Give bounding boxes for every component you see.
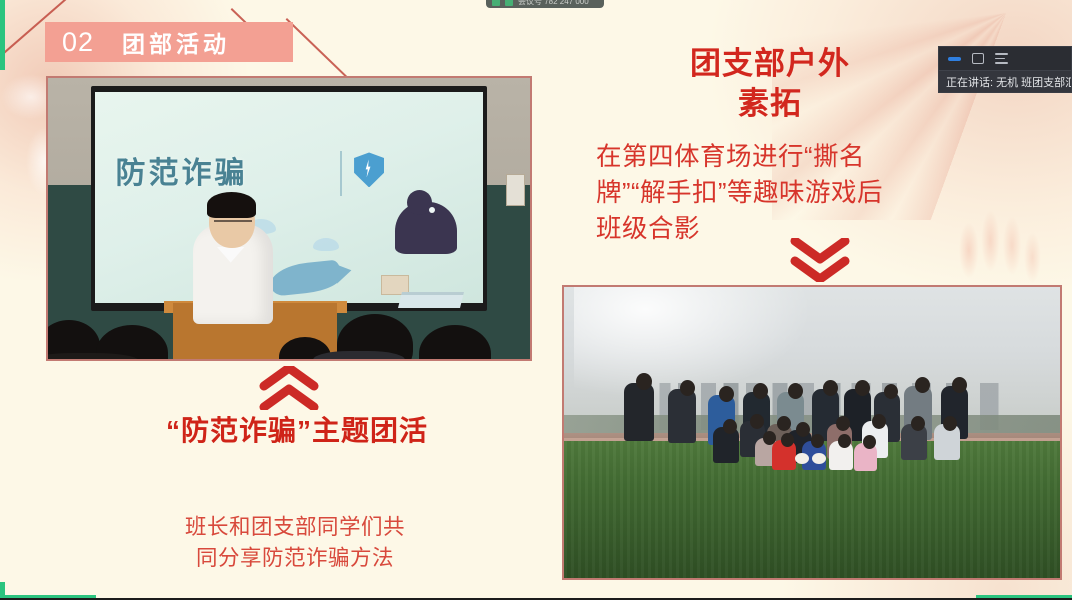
right-heading: 团支部户外 素拓	[600, 44, 940, 123]
current-speaker-status: 正在讲话: 无机 班团支部汇报...	[939, 70, 1071, 92]
person-head	[811, 434, 824, 448]
left-caption-subtitle-line1: 班长和团支部同学们共	[120, 512, 470, 543]
menu-icon[interactable]	[995, 53, 1008, 64]
laptop-illustration	[398, 292, 464, 308]
person-head	[952, 377, 967, 393]
screenshare-border-left	[0, 0, 5, 70]
person-head	[823, 380, 838, 396]
mascot-toy	[795, 453, 809, 464]
chevron-double-down-icon	[789, 238, 851, 282]
presentation-slide: 02 团部活动 防范诈骗	[0, 0, 1072, 600]
right-heading-line1: 团支部户外	[690, 46, 850, 81]
mic-icon[interactable]	[492, 0, 500, 6]
left-caption-subtitle-line2: 同分享防范诈骗方法	[120, 543, 470, 574]
person-head	[781, 433, 794, 447]
section-number: 02	[62, 27, 94, 58]
meeting-toolbar[interactable]: 会议号 782 247 000	[486, 0, 604, 8]
person-head	[750, 414, 764, 429]
person-head	[723, 419, 737, 434]
wall-clock	[506, 174, 525, 206]
meeting-id-label: 会议号 782 247 000	[518, 0, 589, 6]
speaker-glasses	[214, 220, 252, 230]
section-header-band: 02 团部活动	[45, 22, 293, 62]
chevron-double-up-icon	[258, 366, 320, 410]
classroom-photo-content: 防范诈骗	[48, 78, 530, 359]
person-head	[719, 386, 734, 402]
thief-eye	[429, 207, 435, 213]
minimize-icon[interactable]	[948, 57, 961, 61]
right-body-line1: 在第四体育场进行“撕名	[596, 139, 1030, 175]
camera-icon[interactable]	[505, 0, 513, 6]
person-head	[863, 435, 876, 449]
speaker-hair	[207, 192, 256, 218]
mascot-toy	[812, 453, 826, 464]
section-title: 团部活动	[122, 25, 230, 59]
audience-shoulder	[313, 351, 405, 361]
right-body-text: 在第四体育场进行“撕名 牌”“解手扣”等趣味游戏后 班级合影	[596, 139, 1030, 248]
person-standing	[624, 383, 654, 441]
right-heading-line2: 素拓	[600, 84, 940, 124]
window-controls	[939, 47, 1071, 70]
group-photo	[562, 285, 1062, 580]
restore-window-icon[interactable]	[972, 53, 984, 64]
person-head	[872, 414, 886, 429]
left-caption-subtitle: 班长和团支部同学们共 同分享防范诈骗方法	[120, 512, 470, 573]
projector-slide-divider	[340, 151, 342, 196]
audience-shoulder	[46, 353, 139, 361]
right-body-line2: 牌”“解手扣”等趣味游戏后	[596, 175, 1030, 211]
left-caption-title: “防范诈骗”主题团活	[132, 412, 462, 449]
sun-glow	[574, 287, 812, 398]
person-standing	[668, 389, 696, 443]
speaker-panel[interactable]: 正在讲话: 无机 班团支部汇报...	[938, 46, 1072, 93]
classroom-photo: 防范诈骗	[46, 76, 532, 361]
cloud-shape	[313, 238, 339, 251]
group-photo-content	[564, 287, 1060, 578]
projector-slide-title: 防范诈骗	[115, 148, 247, 192]
